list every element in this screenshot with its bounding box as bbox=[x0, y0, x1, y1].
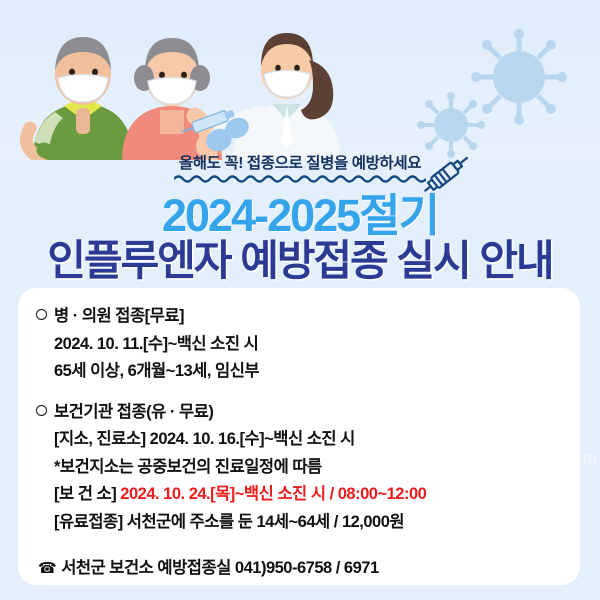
virus-particle-large bbox=[471, 29, 567, 125]
section-heading-health-center-label: 보건기관 접종(유 · 무료) bbox=[54, 403, 213, 421]
section-heading-clinic: 병 · 의원 접종[무료] bbox=[36, 308, 566, 325]
contact-text: 서천군 보건소 예방접종실 041)950-6758 / 6971 bbox=[61, 559, 378, 577]
clinic-period-line: 2024. 10. 11.[수]~백신 소진 시 bbox=[54, 336, 566, 353]
section-heading-health-center: 보건기관 접종(유 · 무료) bbox=[36, 404, 566, 421]
branch-note-line: *보건지소는 공중보건의 진료일정에 따름 bbox=[54, 459, 566, 476]
bullet-circle-icon bbox=[36, 309, 47, 320]
wave-divider-icon bbox=[174, 174, 426, 183]
section-heading-clinic-label: 병 · 의원 접종[무료] bbox=[54, 307, 184, 325]
health-center-label: [보 건 소] bbox=[54, 485, 120, 503]
paid-vaccination-line: [유료접종] 서천군에 주소를 둔 14세~64세 / 12,000원 bbox=[54, 514, 566, 531]
illustration-graphic bbox=[0, 0, 600, 160]
tagline-text: 올해도 꼭! 접종으로 질병을 예방하세요 bbox=[179, 155, 421, 172]
telephone-icon: ☎ bbox=[38, 560, 56, 577]
influenza-vaccination-poster: 올해도 꼭! 접종으로 질병을 예방하세요 2024-2025절기 인플루엔자 … bbox=[0, 0, 600, 600]
tagline-block: 올해도 꼭! 접종으로 질병을 예방하세요 bbox=[0, 155, 600, 183]
bullet-circle-icon bbox=[36, 405, 47, 416]
year-title: 2024-2025절기 bbox=[0, 193, 600, 238]
branch-clinic-line: [지소, 진료소] 2024. 10. 16.[수]~백신 소진 시 bbox=[54, 431, 566, 448]
health-center-schedule: 2024. 10. 24.[목]~백신 소진 시 / 08:00~12:00 bbox=[120, 485, 426, 503]
page-title: 인플루엔자 예방접종 실시 안내 bbox=[0, 238, 600, 284]
header-illustration bbox=[0, 0, 600, 160]
information-card: 병 · 의원 접종[무료] 2024. 10. 11.[수]~백신 소진 시 6… bbox=[18, 288, 580, 585]
clinic-eligibility-line: 65세 이상, 6개월~13세, 임신부 bbox=[54, 363, 566, 380]
virus-particle-small bbox=[417, 92, 485, 158]
contact-line: ☎서천군 보건소 예방접종실 041)950-6758 / 6971 bbox=[38, 554, 566, 578]
health-center-line: [보 건 소] 2024. 10. 24.[목]~백신 소진 시 / 08:00… bbox=[54, 486, 566, 503]
